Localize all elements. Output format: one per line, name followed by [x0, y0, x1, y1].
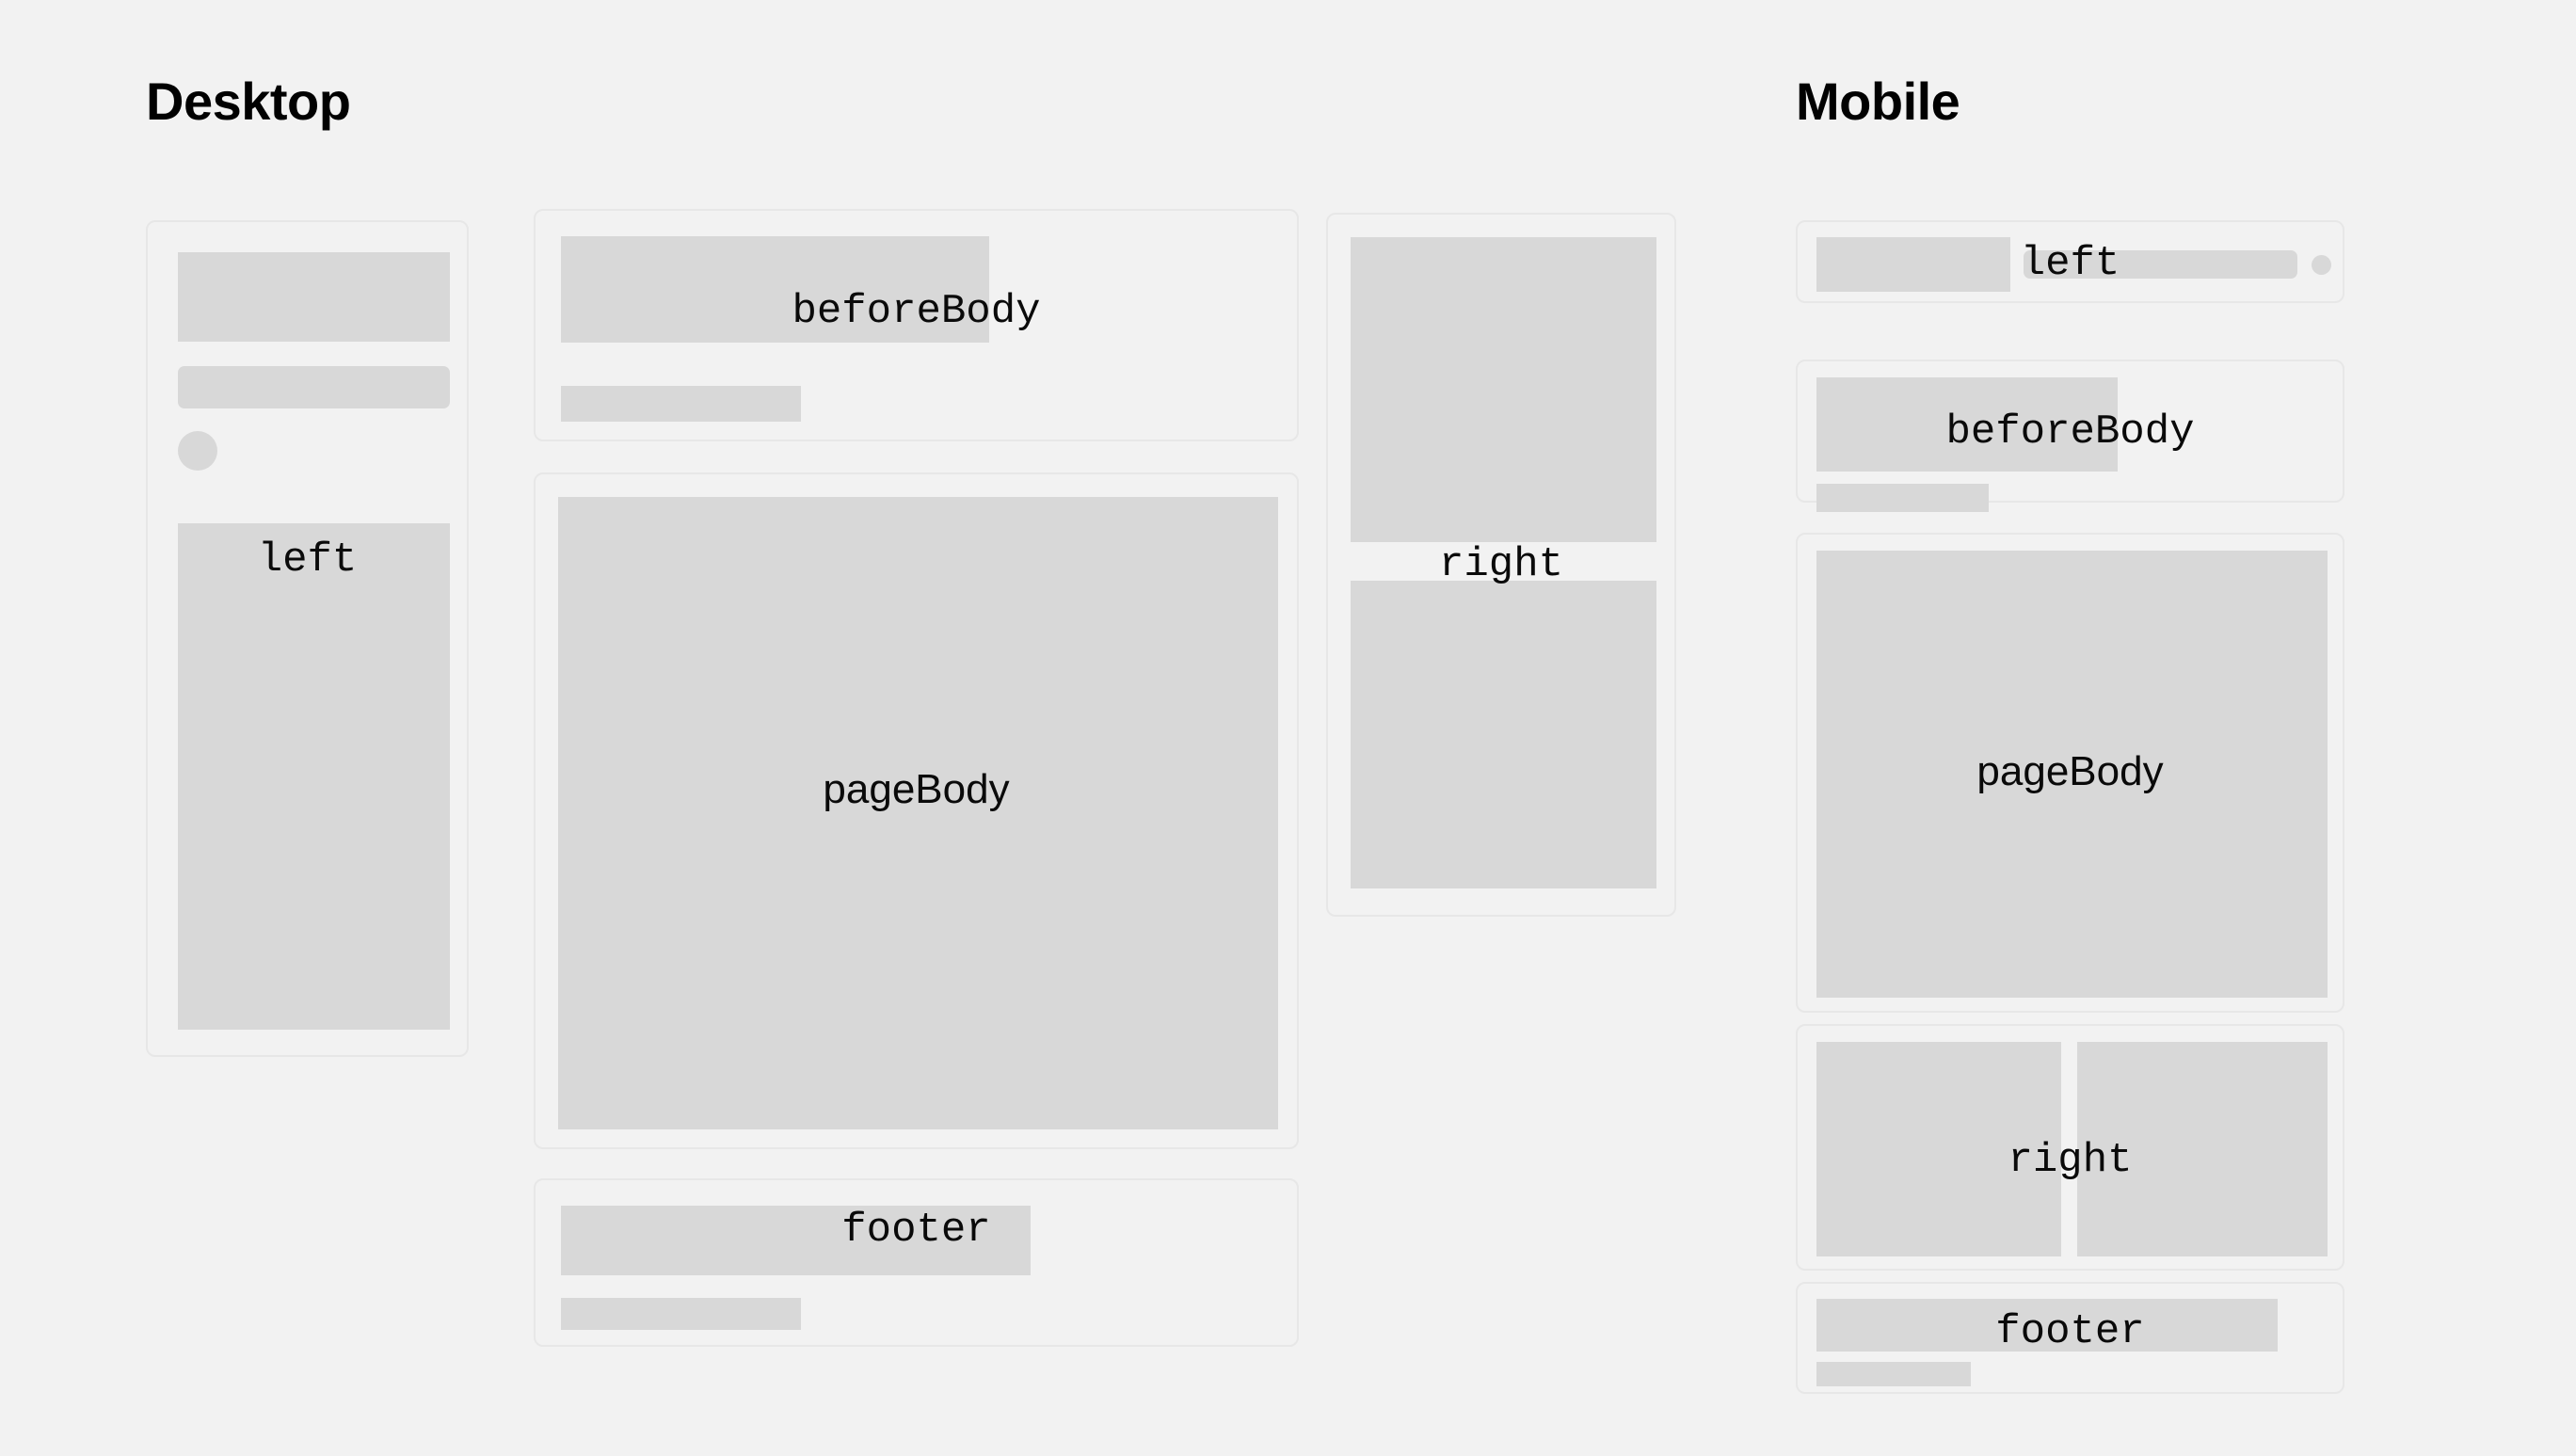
mobile-left-panel[interactable] [1796, 220, 2344, 303]
skeleton-block [1816, 377, 2118, 472]
desktop-before-body-panel[interactable] [534, 209, 1299, 441]
skeleton-block [1351, 581, 1656, 888]
skeleton-block [2077, 1042, 2328, 1256]
mobile-footer-panel[interactable] [1796, 1282, 2344, 1394]
section-title-desktop: Desktop [146, 75, 350, 128]
desktop-left-panel[interactable] [146, 220, 469, 1057]
skeleton-block [1816, 1299, 2278, 1352]
mobile-before-body-panel[interactable] [1796, 360, 2344, 503]
skeleton-bar [178, 366, 450, 408]
skeleton-avatar-circle [178, 431, 217, 471]
skeleton-avatar-circle [2312, 255, 2331, 275]
skeleton-bar [1816, 484, 1989, 512]
skeleton-block [178, 523, 450, 1030]
skeleton-bar [2024, 250, 2297, 279]
skeleton-bar [1816, 1362, 1971, 1386]
mobile-page-body-panel[interactable] [1796, 533, 2344, 1013]
skeleton-block [1351, 237, 1656, 542]
skeleton-block [178, 252, 450, 342]
skeleton-block [1816, 551, 2328, 998]
skeleton-block [561, 1206, 1031, 1275]
desktop-page-body-panel[interactable] [534, 472, 1299, 1149]
desktop-right-panel[interactable] [1326, 213, 1676, 917]
mobile-right-panel[interactable] [1796, 1024, 2344, 1271]
skeleton-bar [561, 1298, 801, 1330]
skeleton-block [1816, 1042, 2061, 1256]
skeleton-bar [561, 386, 801, 422]
skeleton-block [558, 497, 1278, 1129]
skeleton-block [561, 236, 989, 343]
desktop-footer-panel[interactable] [534, 1178, 1299, 1347]
section-title-mobile: Mobile [1796, 75, 1960, 128]
layout-preview-stage: Desktop left beforeBody pageBody footer … [0, 0, 2576, 1456]
skeleton-block [1816, 237, 2010, 292]
